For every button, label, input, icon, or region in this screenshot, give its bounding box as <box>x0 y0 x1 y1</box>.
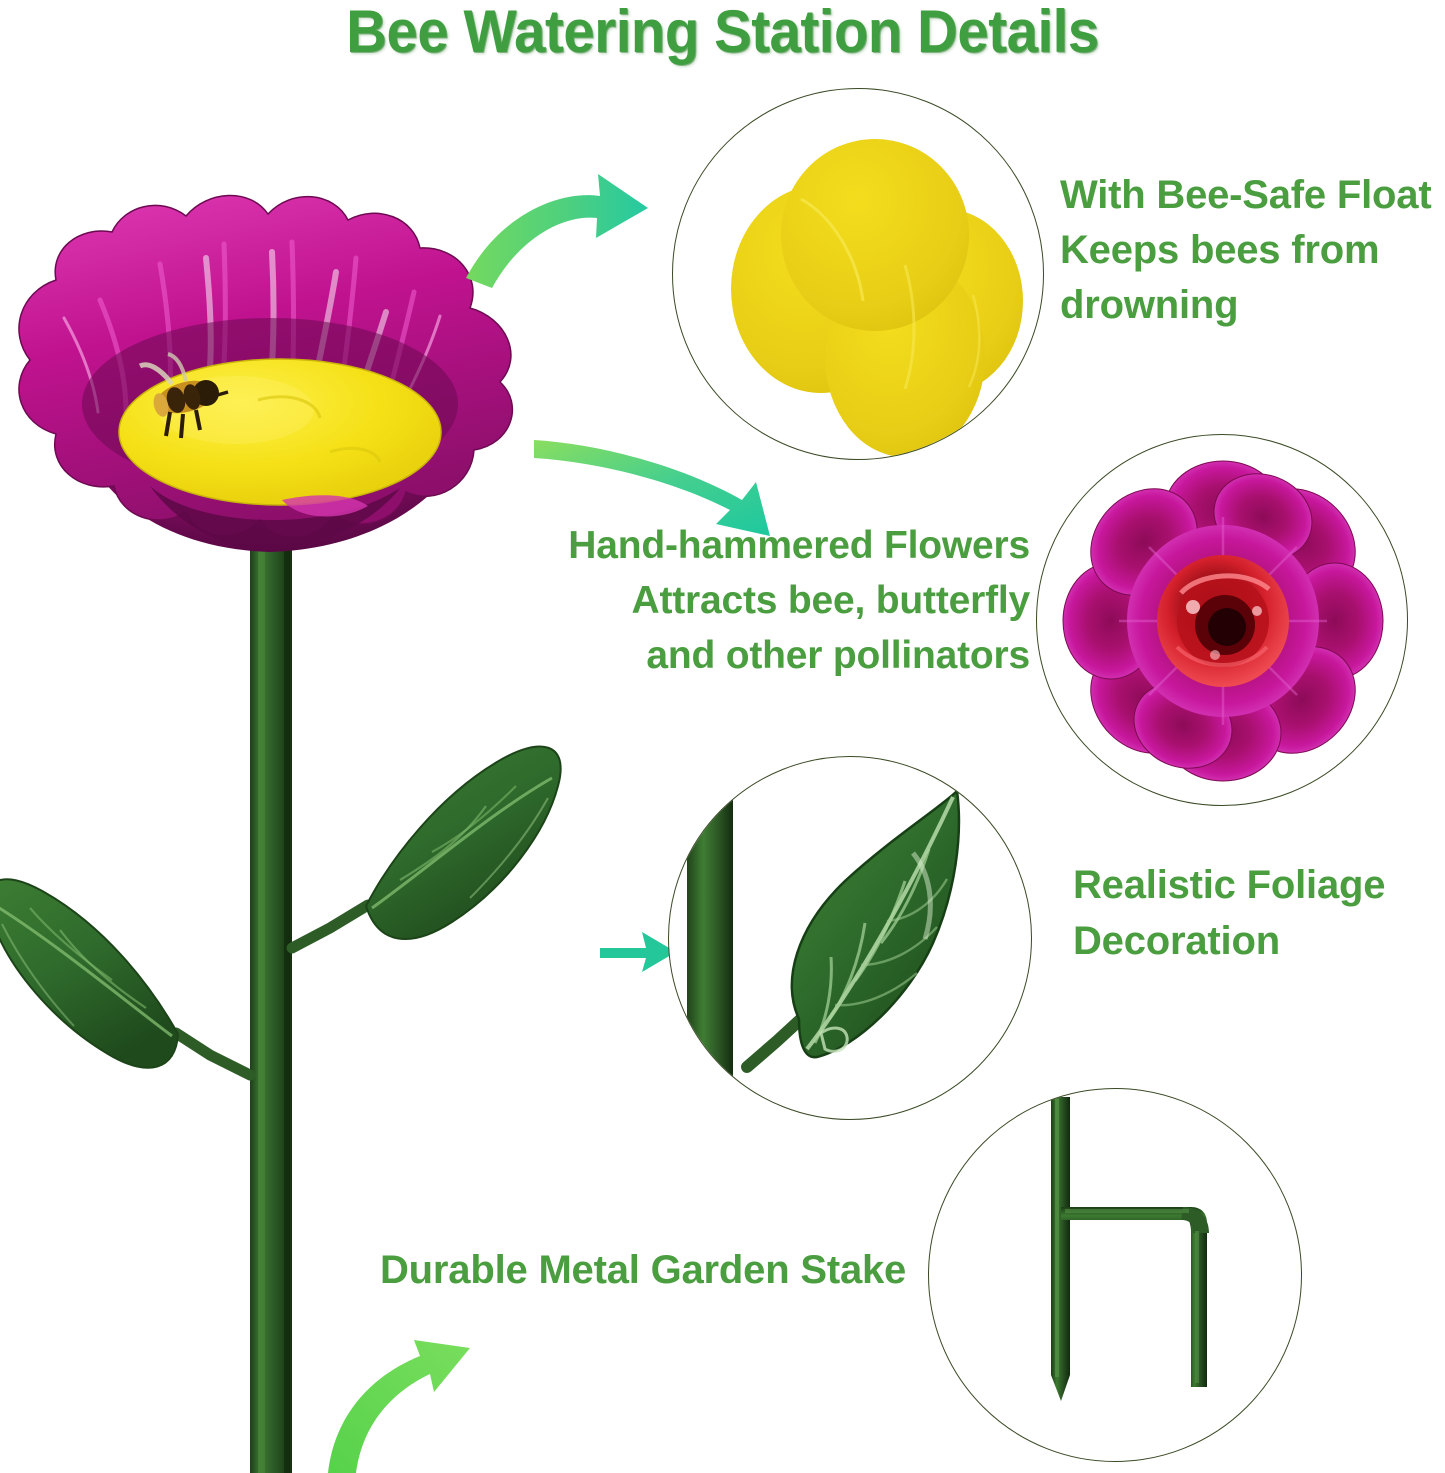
callout-label-stake: Durable Metal Garden Stake <box>380 1244 940 1296</box>
callout-flowers-line-3: and other pollinators <box>470 628 1030 683</box>
callout-float-line-1: With Bee-Safe Float <box>1060 168 1445 223</box>
infographic-page: Bee Watering Station Details <box>0 0 1445 1473</box>
callout-circle-leaf <box>668 756 1032 1120</box>
callout-circle-float <box>672 88 1044 460</box>
curved-arrow-up-right-icon-float <box>466 174 648 288</box>
callout-float-line-3: drowning <box>1060 278 1445 333</box>
product-stem <box>250 548 292 1473</box>
callout-circle-stake <box>928 1088 1302 1462</box>
flower-bowl <box>19 195 512 552</box>
honeybee-icon <box>140 354 228 438</box>
callout-label-foliage: Realistic Foliage Decoration <box>1073 857 1433 969</box>
magenta-flower-top-view-icon <box>1037 435 1408 806</box>
curved-arrow-up-right-icon-stake <box>328 1340 470 1473</box>
yellow-float-discs-icon <box>673 89 1044 460</box>
leaf-lower-left <box>0 879 250 1075</box>
callout-circle-flower <box>1036 434 1408 806</box>
metal-garden-stake-icon <box>929 1089 1302 1462</box>
green-leaf-detail-icon <box>669 757 1032 1120</box>
callout-foliage-line-1: Realistic Foliage <box>1073 857 1433 913</box>
callout-flowers-line-2: Attracts bee, butterfly <box>470 573 1030 628</box>
leaf-upper-right <box>292 747 561 948</box>
callout-foliage-line-2: Decoration <box>1073 913 1433 969</box>
callout-flowers-line-1: Hand-hammered Flowers <box>470 518 1030 573</box>
straight-arrow-right-icon-foliage <box>600 932 676 972</box>
page-title: Bee Watering Station Details <box>43 0 1401 68</box>
callout-float-line-2: Keeps bees from <box>1060 223 1445 278</box>
callout-label-flowers: Hand-hammered Flowers Attracts bee, butt… <box>470 518 1030 683</box>
callout-label-float: With Bee-Safe Float Keeps bees from drow… <box>1060 168 1445 333</box>
callout-stake-line-1: Durable Metal Garden Stake <box>380 1244 940 1296</box>
yellow-float <box>119 359 441 505</box>
